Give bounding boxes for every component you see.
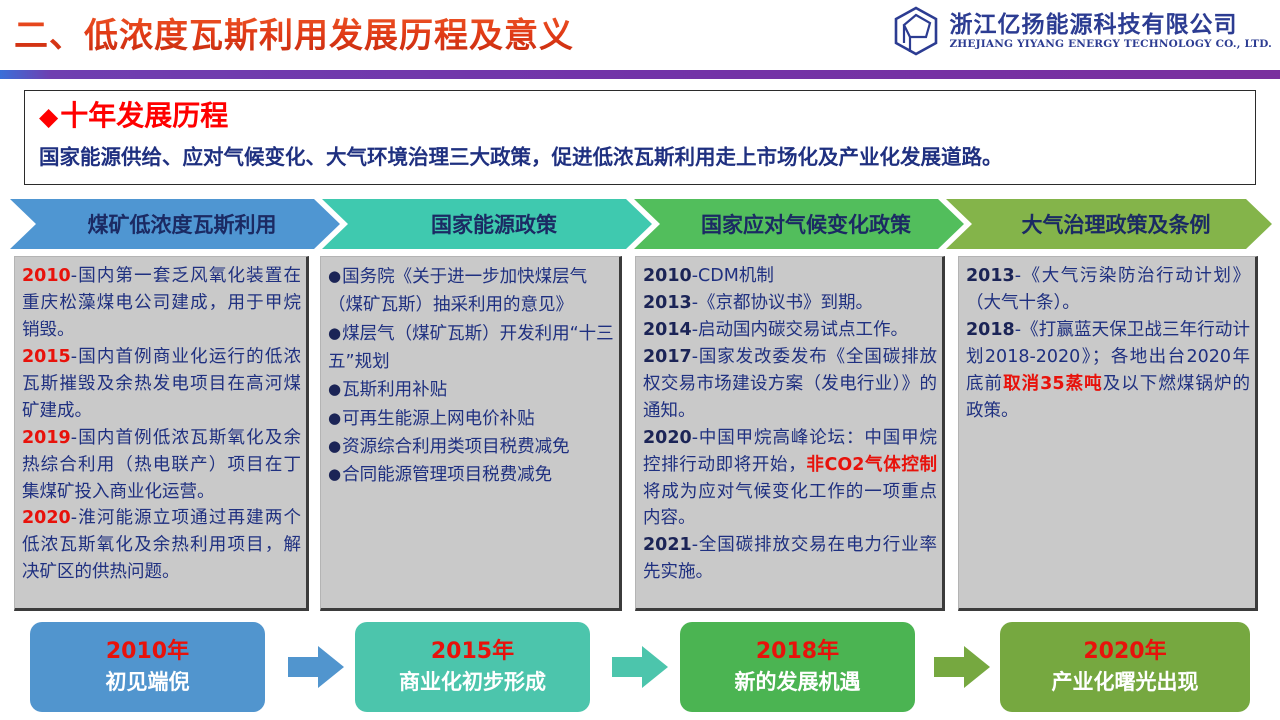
bullet-item: ●可再生能源上网电价补贴 (328, 405, 614, 433)
milestone-2010年[interactable]: 2010年初见端倪 (30, 622, 265, 712)
timeline-entry: 2010-国内第一套乏风氧化装置在重庆松藻煤电公司建成，用于甲烷销毁。 (22, 263, 301, 344)
timeline-entry: 2010-CDM机制 (643, 263, 937, 290)
entry-year: 2015 (22, 347, 71, 367)
company-name-en: ZHEJIANG YIYANG ENERGY TECHNOLOGY CO., L… (949, 38, 1272, 50)
content-box-coal-mine-low-concentration-gas: 2010-国内第一套乏风氧化装置在重庆松藻煤电公司建成，用于甲烷销毁。2015-… (14, 256, 309, 611)
entry-year: 2017 (643, 347, 692, 367)
entry-year: 2019 (22, 428, 71, 448)
timeline-entry: 2020-中国甲烷高峰论坛：中国甲烷控排行动即将开始，非CO2气体控制将成为应对… (643, 425, 937, 533)
bullet-text: 合同能源管理项目税费减免 (342, 465, 552, 485)
milestone-year: 2018年 (756, 639, 839, 664)
milestone-year: 2015年 (431, 639, 514, 664)
bullet-text: 可再生能源上网电价补贴 (342, 409, 535, 429)
chevron-3[interactable]: 国家应对气候变化政策 (634, 199, 964, 249)
bullet-dot-icon: ● (328, 409, 341, 427)
entry-highlight: 非CO2气体控制 (806, 455, 937, 475)
entry-text-after: 将成为应对气候变化工作的一项重点内容。 (643, 482, 937, 529)
chevron-4[interactable]: 大气治理政策及条例 (946, 199, 1272, 249)
arrow-2015-to-2018-icon (612, 644, 668, 690)
title-divider (0, 70, 1280, 79)
bullet-item: ●瓦斯利用补贴 (328, 376, 614, 404)
intro-subtitle: 国家能源供给、应对气候变化、大气环境治理三大政策，促进低浓瓦斯利用走上市场化及产… (39, 140, 1241, 170)
chevron-label: 大气治理政策及条例 (1008, 209, 1211, 239)
intro-panel: ◆十年发展历程 国家能源供给、应对气候变化、大气环境治理三大政策，促进低浓瓦斯利… (24, 90, 1256, 185)
entry-year: 2010 (22, 266, 71, 286)
arrow-2010-to-2015-icon (288, 644, 344, 690)
entry-year: 2021 (643, 535, 692, 555)
timeline-entry: 2013-《大气污染防治行动计划》（大气十条）。 (966, 263, 1250, 317)
bullet-item: ●合同能源管理项目税费减免 (328, 461, 614, 489)
bullet-text: 煤层气（煤矿瓦斯）开发利用“十三五”规划 (328, 324, 614, 372)
bullet-item: ●国务院《关于进一步加快煤层气（煤矿瓦斯）抽采利用的意见》 (328, 263, 614, 320)
entry-year: 2020 (643, 428, 692, 448)
bullet-text: 国务院《关于进一步加快煤层气（煤矿瓦斯）抽采利用的意见》 (328, 267, 587, 315)
content-box-national-energy-policy: ●国务院《关于进一步加快煤层气（煤矿瓦斯）抽采利用的意见》●煤层气（煤矿瓦斯）开… (320, 256, 622, 611)
content-box-air-treatment-policy: 2013-《大气污染防治行动计划》（大气十条）。2018-《打赢蓝天保卫战三年行… (958, 256, 1258, 611)
chevron-label: 煤矿低浓度瓦斯利用 (74, 209, 277, 239)
entry-year: 2020 (22, 508, 71, 528)
entry-highlight: 取消35蒸吨 (1003, 374, 1103, 394)
milestone-2018年[interactable]: 2018年新的发展机遇 (680, 622, 915, 712)
entry-text: -启动国内碳交易试点工作。 (692, 320, 908, 340)
bullet-dot-icon: ● (328, 437, 341, 455)
bullet-dot-icon: ● (328, 267, 341, 285)
bullet-text: 资源综合利用类项目税费减免 (342, 437, 570, 457)
bullet-item: ●资源综合利用类项目税费减免 (328, 433, 614, 461)
company-logo: 浙江亿扬能源科技有限公司 ZHEJIANG YIYANG ENERGY TECH… (893, 6, 1272, 56)
entry-text: -《京都协议书》到期。 (692, 293, 873, 313)
bullet-text: 瓦斯利用补贴 (342, 380, 447, 400)
chevron-label: 国家应对气候变化政策 (687, 209, 911, 239)
diamond-bullet-icon: ◆ (39, 102, 58, 131)
hexagon-logo-icon (893, 6, 939, 56)
bullet-dot-icon: ● (328, 465, 341, 483)
chevron-2[interactable]: 国家能源政策 (322, 199, 652, 249)
milestone-2020年[interactable]: 2020年产业化曙光出现 (1000, 622, 1250, 712)
milestone-label: 产业化曙光出现 (1052, 669, 1199, 695)
milestone-label: 新的发展机遇 (735, 669, 861, 695)
timeline-entry: 2020-淮河能源立项通过再建两个低浓瓦斯氧化及余热利用项目，解决矿区的供热问题… (22, 505, 301, 586)
arrow-2018-to-2020-icon (934, 644, 990, 690)
slide-header: 二、低浓度瓦斯利用发展历程及意义 浙江亿扬能源科技有限公司 ZHEJIANG Y… (0, 0, 1280, 68)
entry-year: 2014 (643, 320, 692, 340)
intro-heading: ◆十年发展历程 (39, 101, 1241, 132)
milestone-label: 初见端倪 (106, 669, 190, 695)
milestone-year: 2020年 (1083, 639, 1166, 664)
timeline-entry: 2013-《京都协议书》到期。 (643, 290, 937, 317)
bullet-item: ●煤层气（煤矿瓦斯）开发利用“十三五”规划 (328, 320, 614, 377)
bullet-dot-icon: ● (328, 324, 341, 342)
chevron-1[interactable]: 煤矿低浓度瓦斯利用 (10, 199, 340, 249)
chevron-row: 煤矿低浓度瓦斯利用国家能源政策国家应对气候变化政策大气治理政策及条例 (10, 199, 1272, 249)
milestone-year: 2010年 (106, 639, 189, 664)
page-title: 二、低浓度瓦斯利用发展历程及意义 (14, 8, 574, 57)
entry-text: -CDM机制 (692, 266, 774, 286)
timeline-entry: 2018-《打赢蓝天保卫战三年行动计划2018-2020》；各地出台2020年底… (966, 317, 1250, 425)
intro-heading-text: 十年发展历程 (60, 99, 228, 132)
timeline-entry: 2017-国家发改委发布《全国碳排放权交易市场建设方案（发电行业）》的通知。 (643, 344, 937, 425)
content-box-climate-change-policy: 2010-CDM机制2013-《京都协议书》到期。2014-启动国内碳交易试点工… (635, 256, 945, 611)
entry-year: 2013 (966, 266, 1015, 286)
timeline-entry: 2015-国内首例商业化运行的低浓瓦斯摧毁及余热发电项目在高河煤矿建成。 (22, 344, 301, 425)
chevron-label: 国家能源政策 (417, 209, 557, 239)
timeline-entry: 2019-国内首例低浓瓦斯氧化及余热综合利用（热电联产）项目在丁集煤矿投入商业化… (22, 425, 301, 506)
timeline-entry: 2021-全国碳排放交易在电力行业率先实施。 (643, 532, 937, 586)
milestone-2015年[interactable]: 2015年商业化初步形成 (355, 622, 590, 712)
company-name-cn: 浙江亿扬能源科技有限公司 (949, 12, 1272, 38)
entry-year: 2018 (966, 320, 1015, 340)
milestone-label: 商业化初步形成 (399, 669, 546, 695)
bullet-dot-icon: ● (328, 380, 341, 398)
entry-year: 2013 (643, 293, 692, 313)
entry-year: 2010 (643, 266, 692, 286)
timeline-entry: 2014-启动国内碳交易试点工作。 (643, 317, 937, 344)
